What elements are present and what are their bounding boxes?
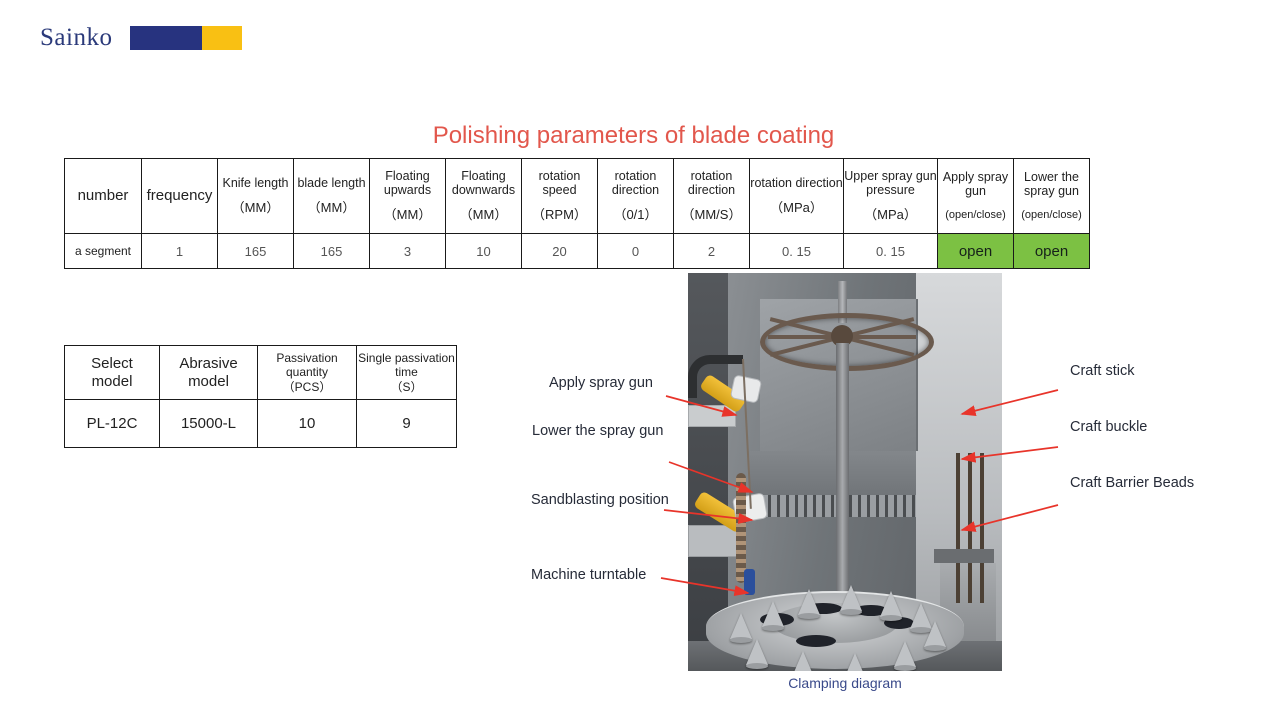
header-number: number bbox=[65, 159, 142, 234]
cell-passivation-quantity: 10 bbox=[258, 400, 357, 448]
cell-knife-length: 165 bbox=[218, 234, 294, 269]
header-abrasive-model: Abrasive model bbox=[160, 346, 258, 400]
table-row: PL-12C 15000-L 10 9 bbox=[65, 400, 457, 448]
header-floating-downwards: Floating downwards （MM） bbox=[446, 159, 522, 234]
brand-logo: Sainko bbox=[40, 24, 242, 52]
callout-sandblasting-position: Sandblasting position bbox=[531, 492, 669, 508]
callout-craft-buckle: Craft buckle bbox=[1070, 419, 1147, 435]
header-apply-spray-gun: Apply spray gun (open/close) bbox=[938, 159, 1014, 234]
photo-cone-fixture bbox=[840, 585, 862, 611]
machine-photo bbox=[688, 273, 1002, 671]
cell-rotation-speed: 20 bbox=[522, 234, 598, 269]
cell-rotation-direction-mms: 2 bbox=[674, 234, 750, 269]
table-header-row: number frequency Knife length （MM） blade… bbox=[65, 159, 1090, 234]
cell-lower-spray-gun: open bbox=[1014, 234, 1090, 269]
cell-number: a segment bbox=[65, 234, 142, 269]
header-floating-upwards: Floating upwards （MM） bbox=[370, 159, 446, 234]
cell-select-model: PL-12C bbox=[65, 400, 160, 448]
header-single-passivation-time: Single passivation time （S） bbox=[357, 346, 457, 400]
cell-blade-length: 165 bbox=[294, 234, 370, 269]
photo-cone-fixture bbox=[844, 653, 866, 671]
photo-cone-fixture bbox=[880, 591, 902, 617]
header-knife-length: Knife length （MM） bbox=[218, 159, 294, 234]
table-row: a segment 1 165 165 3 10 20 0 2 0. 15 0.… bbox=[65, 234, 1090, 269]
page-title: Polishing parameters of blade coating bbox=[0, 122, 1267, 150]
cell-single-passivation-time: 9 bbox=[357, 400, 457, 448]
callout-lower-the-spray-gun: Lower the spray gun bbox=[532, 423, 663, 439]
photo-cone-fixture bbox=[798, 589, 820, 615]
photo-cone-fixture bbox=[730, 613, 752, 639]
photo-cone-fixture bbox=[894, 641, 916, 667]
brand-logo-bars bbox=[130, 26, 242, 50]
callout-craft-stick: Craft stick bbox=[1070, 363, 1134, 379]
photo-cone-fixture bbox=[746, 639, 768, 665]
header-passivation-quantity: Passivation quantity （PCS） bbox=[258, 346, 357, 400]
header-select-model: Select model bbox=[65, 346, 160, 400]
photo-blue-clamp bbox=[744, 569, 755, 595]
callout-apply-spray-gun: Apply spray gun bbox=[549, 375, 653, 391]
model-selection-table: Select model Abrasive model Passivation … bbox=[64, 345, 457, 448]
header-rotation-direction-01: rotation direction （0/1） bbox=[598, 159, 674, 234]
photo-bracket bbox=[934, 549, 994, 563]
brand-name: Sainko bbox=[40, 24, 112, 52]
table-header-row: Select model Abrasive model Passivation … bbox=[65, 346, 457, 400]
cell-frequency: 1 bbox=[142, 234, 218, 269]
polishing-parameters-table: number frequency Knife length （MM） blade… bbox=[64, 158, 1090, 269]
photo-craft-barrier-beads bbox=[736, 473, 746, 583]
header-rotation-direction-mpa: rotation direction （MPa） bbox=[750, 159, 844, 234]
photo-comb-fixture bbox=[750, 495, 916, 517]
callout-craft-barrier-beads: Craft Barrier Beads bbox=[1070, 475, 1194, 491]
cell-apply-spray-gun: open bbox=[938, 234, 1014, 269]
callout-machine-turntable: Machine turntable bbox=[531, 567, 646, 583]
photo-turntable-slot bbox=[796, 635, 836, 647]
cell-rotation-direction-mpa: 0. 15 bbox=[750, 234, 844, 269]
header-upper-spray-gun-pressure: Upper spray gun pressure （MPa） bbox=[844, 159, 938, 234]
diagram-caption: Clamping diagram bbox=[688, 675, 1002, 691]
cell-floating-upwards: 3 bbox=[370, 234, 446, 269]
brand-bar-gold bbox=[202, 26, 242, 50]
header-frequency: frequency bbox=[142, 159, 218, 234]
cell-abrasive-model: 15000-L bbox=[160, 400, 258, 448]
photo-cone-fixture bbox=[762, 601, 784, 627]
cell-floating-downwards: 10 bbox=[446, 234, 522, 269]
header-blade-length: blade length （MM） bbox=[294, 159, 370, 234]
photo-vertical-rods bbox=[956, 453, 990, 603]
cell-upper-spray-gun-pressure: 0. 15 bbox=[844, 234, 938, 269]
brand-bar-navy bbox=[130, 26, 202, 50]
cell-rotation-direction-01: 0 bbox=[598, 234, 674, 269]
header-rotation-speed: rotation speed （RPM） bbox=[522, 159, 598, 234]
header-rotation-direction-mms: rotation direction （MM/S） bbox=[674, 159, 750, 234]
photo-cone-fixture bbox=[924, 621, 946, 647]
photo-cone-fixture bbox=[792, 651, 814, 671]
header-lower-spray-gun: Lower the spray gun (open/close) bbox=[1014, 159, 1090, 234]
